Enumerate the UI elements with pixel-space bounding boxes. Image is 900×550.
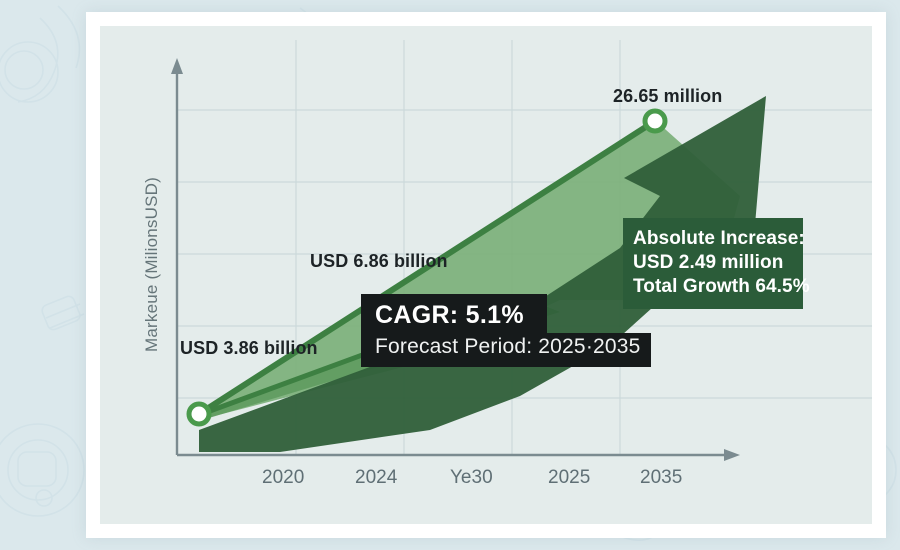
data-label-end: 26.65 million — [613, 86, 722, 107]
data-label-mid: USD 6.86 billion — [310, 251, 448, 272]
y-axis-title: Markeue (MilionsUSD) — [142, 177, 162, 352]
data-label-start: USD 3.86 billion — [180, 338, 318, 359]
x-tick-label-2: Ye30 — [450, 467, 493, 489]
cagr-headline: CAGR: 5.1% — [361, 294, 547, 333]
x-tick-label-4: 2035 — [640, 467, 682, 489]
x-tick-label-3: 2025 — [548, 467, 590, 489]
stats-line-absolute-increase-title: Absolute Increase: — [633, 227, 797, 251]
chart-screenshot: Markeue (MilionsUSD) 2020 2024 Ye30 2025… — [0, 0, 900, 550]
cagr-forecast-period: Forecast Period: 2025·2035 — [361, 333, 651, 367]
x-tick-label-1: 2024 — [355, 467, 397, 489]
cagr-callout: CAGR: 5.1% Forecast Period: 2025·2035 — [361, 294, 651, 367]
x-tick-label-0: 2020 — [262, 467, 304, 489]
stats-line-total-growth: Total Growth 64.5% — [633, 275, 797, 299]
stats-line-absolute-increase-value: USD 2.49 million — [633, 251, 797, 275]
